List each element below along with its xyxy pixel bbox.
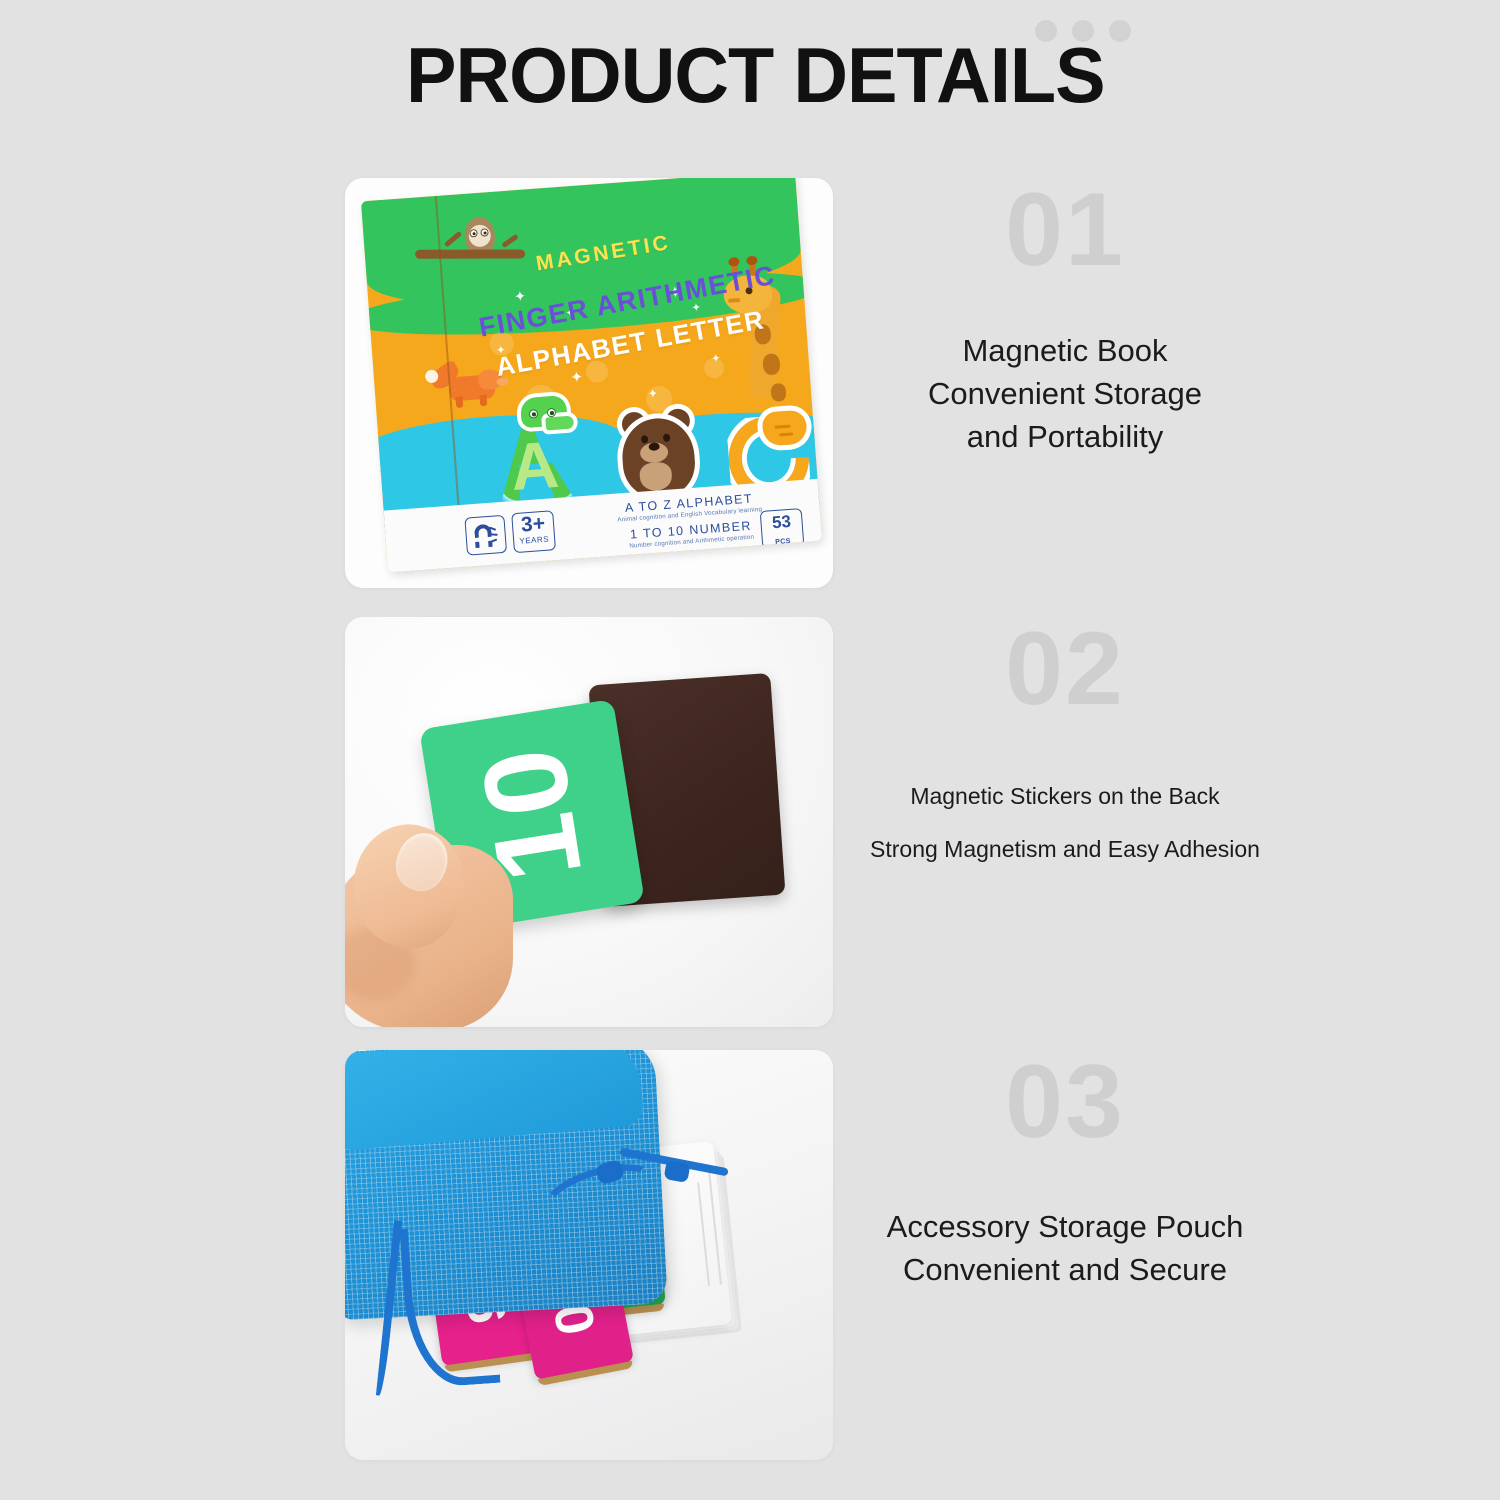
piece-count-number: 53 xyxy=(771,512,791,532)
letter-tile-a: A xyxy=(494,402,585,504)
caption-line: Magnetic Book xyxy=(850,330,1280,373)
caption-line: and Portability xyxy=(850,416,1280,459)
feature-row-03: 10 = ? 9 0 03 Accesso xyxy=(0,1050,1500,1460)
product-photo-storage-pouch[interactable]: 10 = ? 9 0 xyxy=(345,1050,833,1460)
dot-icon xyxy=(1035,20,1057,42)
piece-count-unit: PCS xyxy=(762,531,803,554)
branch-icon xyxy=(415,249,525,258)
piece-count-badge: 53 PCS xyxy=(760,508,805,549)
feature-row-02: 10 02 Magnetic Stickers on the Back Stro… xyxy=(0,617,1500,1027)
product-photo-magnetic-book[interactable]: ✦ ✦ ✦ ✦ ✦ ✦ ✦ ✦ MAGNETIC FINGER ARITHMET… xyxy=(345,178,833,588)
feature-number-03: 03 xyxy=(850,1050,1280,1154)
product-photo-magnet-sticker[interactable]: 10 xyxy=(345,617,833,1027)
dot-icon xyxy=(1072,20,1094,42)
feature-caption-03: Accessory Storage Pouch Convenient and S… xyxy=(850,1206,1280,1292)
caption-line: Accessory Storage Pouch xyxy=(850,1206,1280,1249)
caption-line: Convenient and Secure xyxy=(850,1249,1280,1292)
feature-text-03: 03 Accessory Storage Pouch Convenient an… xyxy=(850,1050,1280,1292)
decorative-dots xyxy=(1035,20,1131,42)
feature-number-01: 01 xyxy=(850,178,1280,282)
dot-icon xyxy=(1109,20,1131,42)
caption-line: Magnetic Stickers on the Back xyxy=(850,785,1280,808)
letter-a-glyph: A xyxy=(508,426,561,505)
page-title: PRODUCT DETAILS xyxy=(406,36,1105,114)
page-header: PRODUCT DETAILS xyxy=(0,0,1500,160)
age-unit: YEARS xyxy=(514,535,554,546)
feature-caption-02: Magnetic Stickers on the Back Strong Mag… xyxy=(850,785,1280,861)
feature-caption-01: Magnetic Book Convenient Storage and Por… xyxy=(850,330,1280,458)
feature-text-01: 01 Magnetic Book Convenient Storage and … xyxy=(850,178,1280,458)
hand xyxy=(345,805,553,1027)
magnet-icon xyxy=(464,515,507,556)
feature-text-02: 02 Magnetic Stickers on the Back Strong … xyxy=(850,617,1280,861)
age-badge: 3+ YEARS xyxy=(511,510,556,553)
magnetic-book: ✦ ✦ ✦ ✦ ✦ ✦ ✦ ✦ MAGNETIC FINGER ARITHMET… xyxy=(361,178,824,588)
feature-row-01: ✦ ✦ ✦ ✦ ✦ ✦ ✦ ✦ MAGNETIC FINGER ARITHMET… xyxy=(0,178,1500,588)
caption-line: Strong Magnetism and Easy Adhesion xyxy=(850,838,1280,861)
caption-line: Convenient Storage xyxy=(850,373,1280,416)
feature-number-02: 02 xyxy=(850,617,1280,721)
